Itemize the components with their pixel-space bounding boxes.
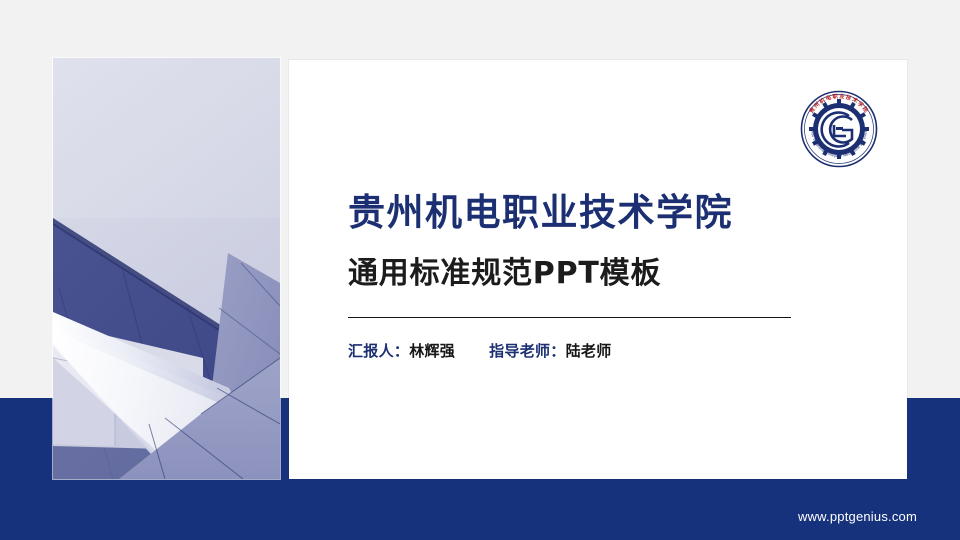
footer-url[interactable]: www.pptgenius.com [798,509,917,524]
advisor-name: 陆老师 [566,342,612,360]
university-seal-logo: 贵州机电职业技术学院 Guizhou Vocational College of… [794,84,884,174]
slide-canvas: 贵州机电职业技术学院 Guizhou Vocational College of… [0,0,960,540]
byline: 汇报人：林辉强指导老师：陆老师 [348,340,612,361]
architecture-photo [53,58,280,479]
page-title: 贵州机电职业技术学院 [348,191,733,235]
presenter-label: 汇报人： [348,342,409,360]
page-subtitle: 通用标准规范PPT模板 [348,256,661,292]
advisor-label: 指导老师： [489,342,566,360]
presenter-name: 林辉强 [409,342,455,360]
title-divider [348,317,791,318]
